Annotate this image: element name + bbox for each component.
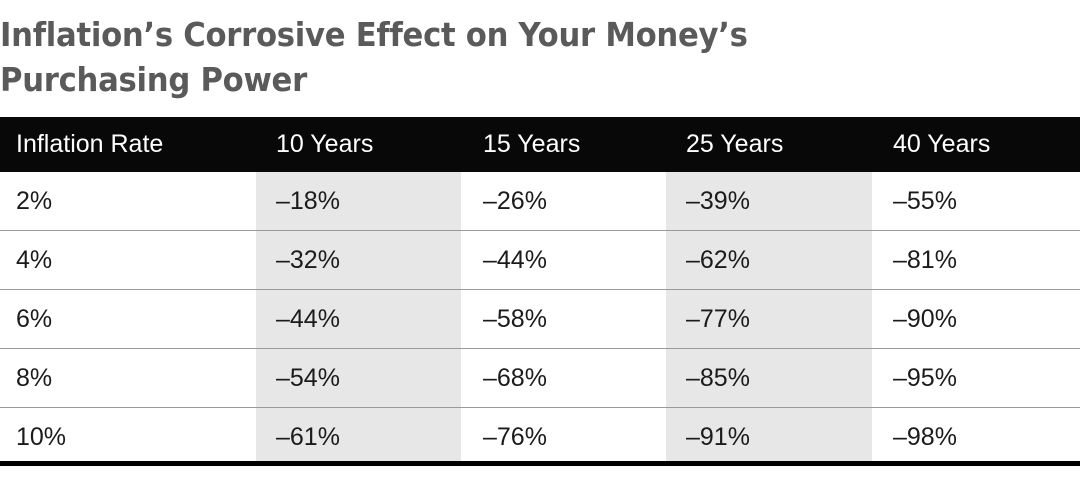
cell-value: 8% xyxy=(0,364,52,392)
cell-rate: 2% xyxy=(0,172,256,231)
table-row: 4% –32% –44% –62% –81% xyxy=(0,231,1080,290)
table-body: 2% –18% –26% –39% –55% 4% –32% –44% –62%… xyxy=(0,172,1080,466)
cell-15-years: –68% xyxy=(461,349,666,408)
cell-10-years: –54% xyxy=(256,349,461,408)
cell-25-years: –91% xyxy=(666,408,872,467)
cell-15-years: –26% xyxy=(461,172,666,231)
column-header-inflation-rate: Inflation Rate xyxy=(0,117,256,172)
column-header-label: 25 Years xyxy=(666,130,783,158)
cell-10-years: –32% xyxy=(256,231,461,290)
cell-value: –55% xyxy=(872,187,957,215)
cell-rate: 10% xyxy=(0,408,256,467)
cell-25-years: –77% xyxy=(666,290,872,349)
page-title: Inflation’s Corrosive Effect on Your Mon… xyxy=(0,12,840,102)
table-header: Inflation Rate 10 Years 15 Years 25 Year… xyxy=(0,117,1080,172)
cell-value: –62% xyxy=(666,246,750,274)
cell-value: 6% xyxy=(0,305,52,333)
cell-15-years: –44% xyxy=(461,231,666,290)
cell-value: –18% xyxy=(256,187,340,215)
cell-25-years: –62% xyxy=(666,231,872,290)
cell-value: –54% xyxy=(256,364,340,392)
cell-value: –76% xyxy=(461,423,547,451)
column-header-label: 10 Years xyxy=(256,130,373,158)
cell-15-years: –58% xyxy=(461,290,666,349)
cell-value: –44% xyxy=(461,246,547,274)
inflation-purchasing-power-table: Inflation Rate 10 Years 15 Years 25 Year… xyxy=(0,117,1080,466)
cell-value: 4% xyxy=(0,246,52,274)
cell-rate: 4% xyxy=(0,231,256,290)
cell-value: –26% xyxy=(461,187,547,215)
cell-value: –44% xyxy=(256,305,340,333)
page-root: Inflation’s Corrosive Effect on Your Mon… xyxy=(0,0,1080,488)
cell-value: –95% xyxy=(872,364,957,392)
table-header-row: Inflation Rate 10 Years 15 Years 25 Year… xyxy=(0,117,1080,172)
column-header-10-years: 10 Years xyxy=(256,117,461,172)
cell-40-years: –95% xyxy=(872,349,1080,408)
cell-value: –81% xyxy=(872,246,957,274)
cell-25-years: –39% xyxy=(666,172,872,231)
cell-value: –90% xyxy=(872,305,957,333)
page-title-line-2: Purchasing Power xyxy=(0,57,781,102)
cell-value: –32% xyxy=(256,246,340,274)
cell-value: –58% xyxy=(461,305,547,333)
cell-value: –61% xyxy=(256,423,340,451)
table-row: 2% –18% –26% –39% –55% xyxy=(0,172,1080,231)
cell-value: –91% xyxy=(666,423,750,451)
cell-value: 2% xyxy=(0,187,52,215)
cell-40-years: –90% xyxy=(872,290,1080,349)
column-header-15-years: 15 Years xyxy=(461,117,666,172)
table-row: 6% –44% –58% –77% –90% xyxy=(0,290,1080,349)
column-header-40-years: 40 Years xyxy=(872,117,1080,172)
cell-rate: 6% xyxy=(0,290,256,349)
column-header-label: 15 Years xyxy=(461,130,580,158)
inflation-table-container: Inflation Rate 10 Years 15 Years 25 Year… xyxy=(0,117,1080,466)
cell-value: 10% xyxy=(0,423,66,451)
cell-40-years: –55% xyxy=(872,172,1080,231)
cell-value: –68% xyxy=(461,364,547,392)
cell-15-years: –76% xyxy=(461,408,666,467)
cell-10-years: –18% xyxy=(256,172,461,231)
column-header-label: 40 Years xyxy=(872,130,990,158)
table-bottom-rule xyxy=(0,461,1080,466)
cell-value: –77% xyxy=(666,305,750,333)
cell-40-years: –81% xyxy=(872,231,1080,290)
cell-40-years: –98% xyxy=(872,408,1080,467)
cell-10-years: –61% xyxy=(256,408,461,467)
cell-rate: 8% xyxy=(0,349,256,408)
cell-value: –85% xyxy=(666,364,750,392)
cell-value: –98% xyxy=(872,423,957,451)
column-header-label: Inflation Rate xyxy=(0,130,163,158)
table-row: 8% –54% –68% –85% –95% xyxy=(0,349,1080,408)
cell-25-years: –85% xyxy=(666,349,872,408)
cell-10-years: –44% xyxy=(256,290,461,349)
cell-value: –39% xyxy=(666,187,750,215)
table-row: 10% –61% –76% –91% –98% xyxy=(0,408,1080,467)
column-header-25-years: 25 Years xyxy=(666,117,872,172)
page-title-line-1: Inflation’s Corrosive Effect on Your Mon… xyxy=(0,12,781,57)
